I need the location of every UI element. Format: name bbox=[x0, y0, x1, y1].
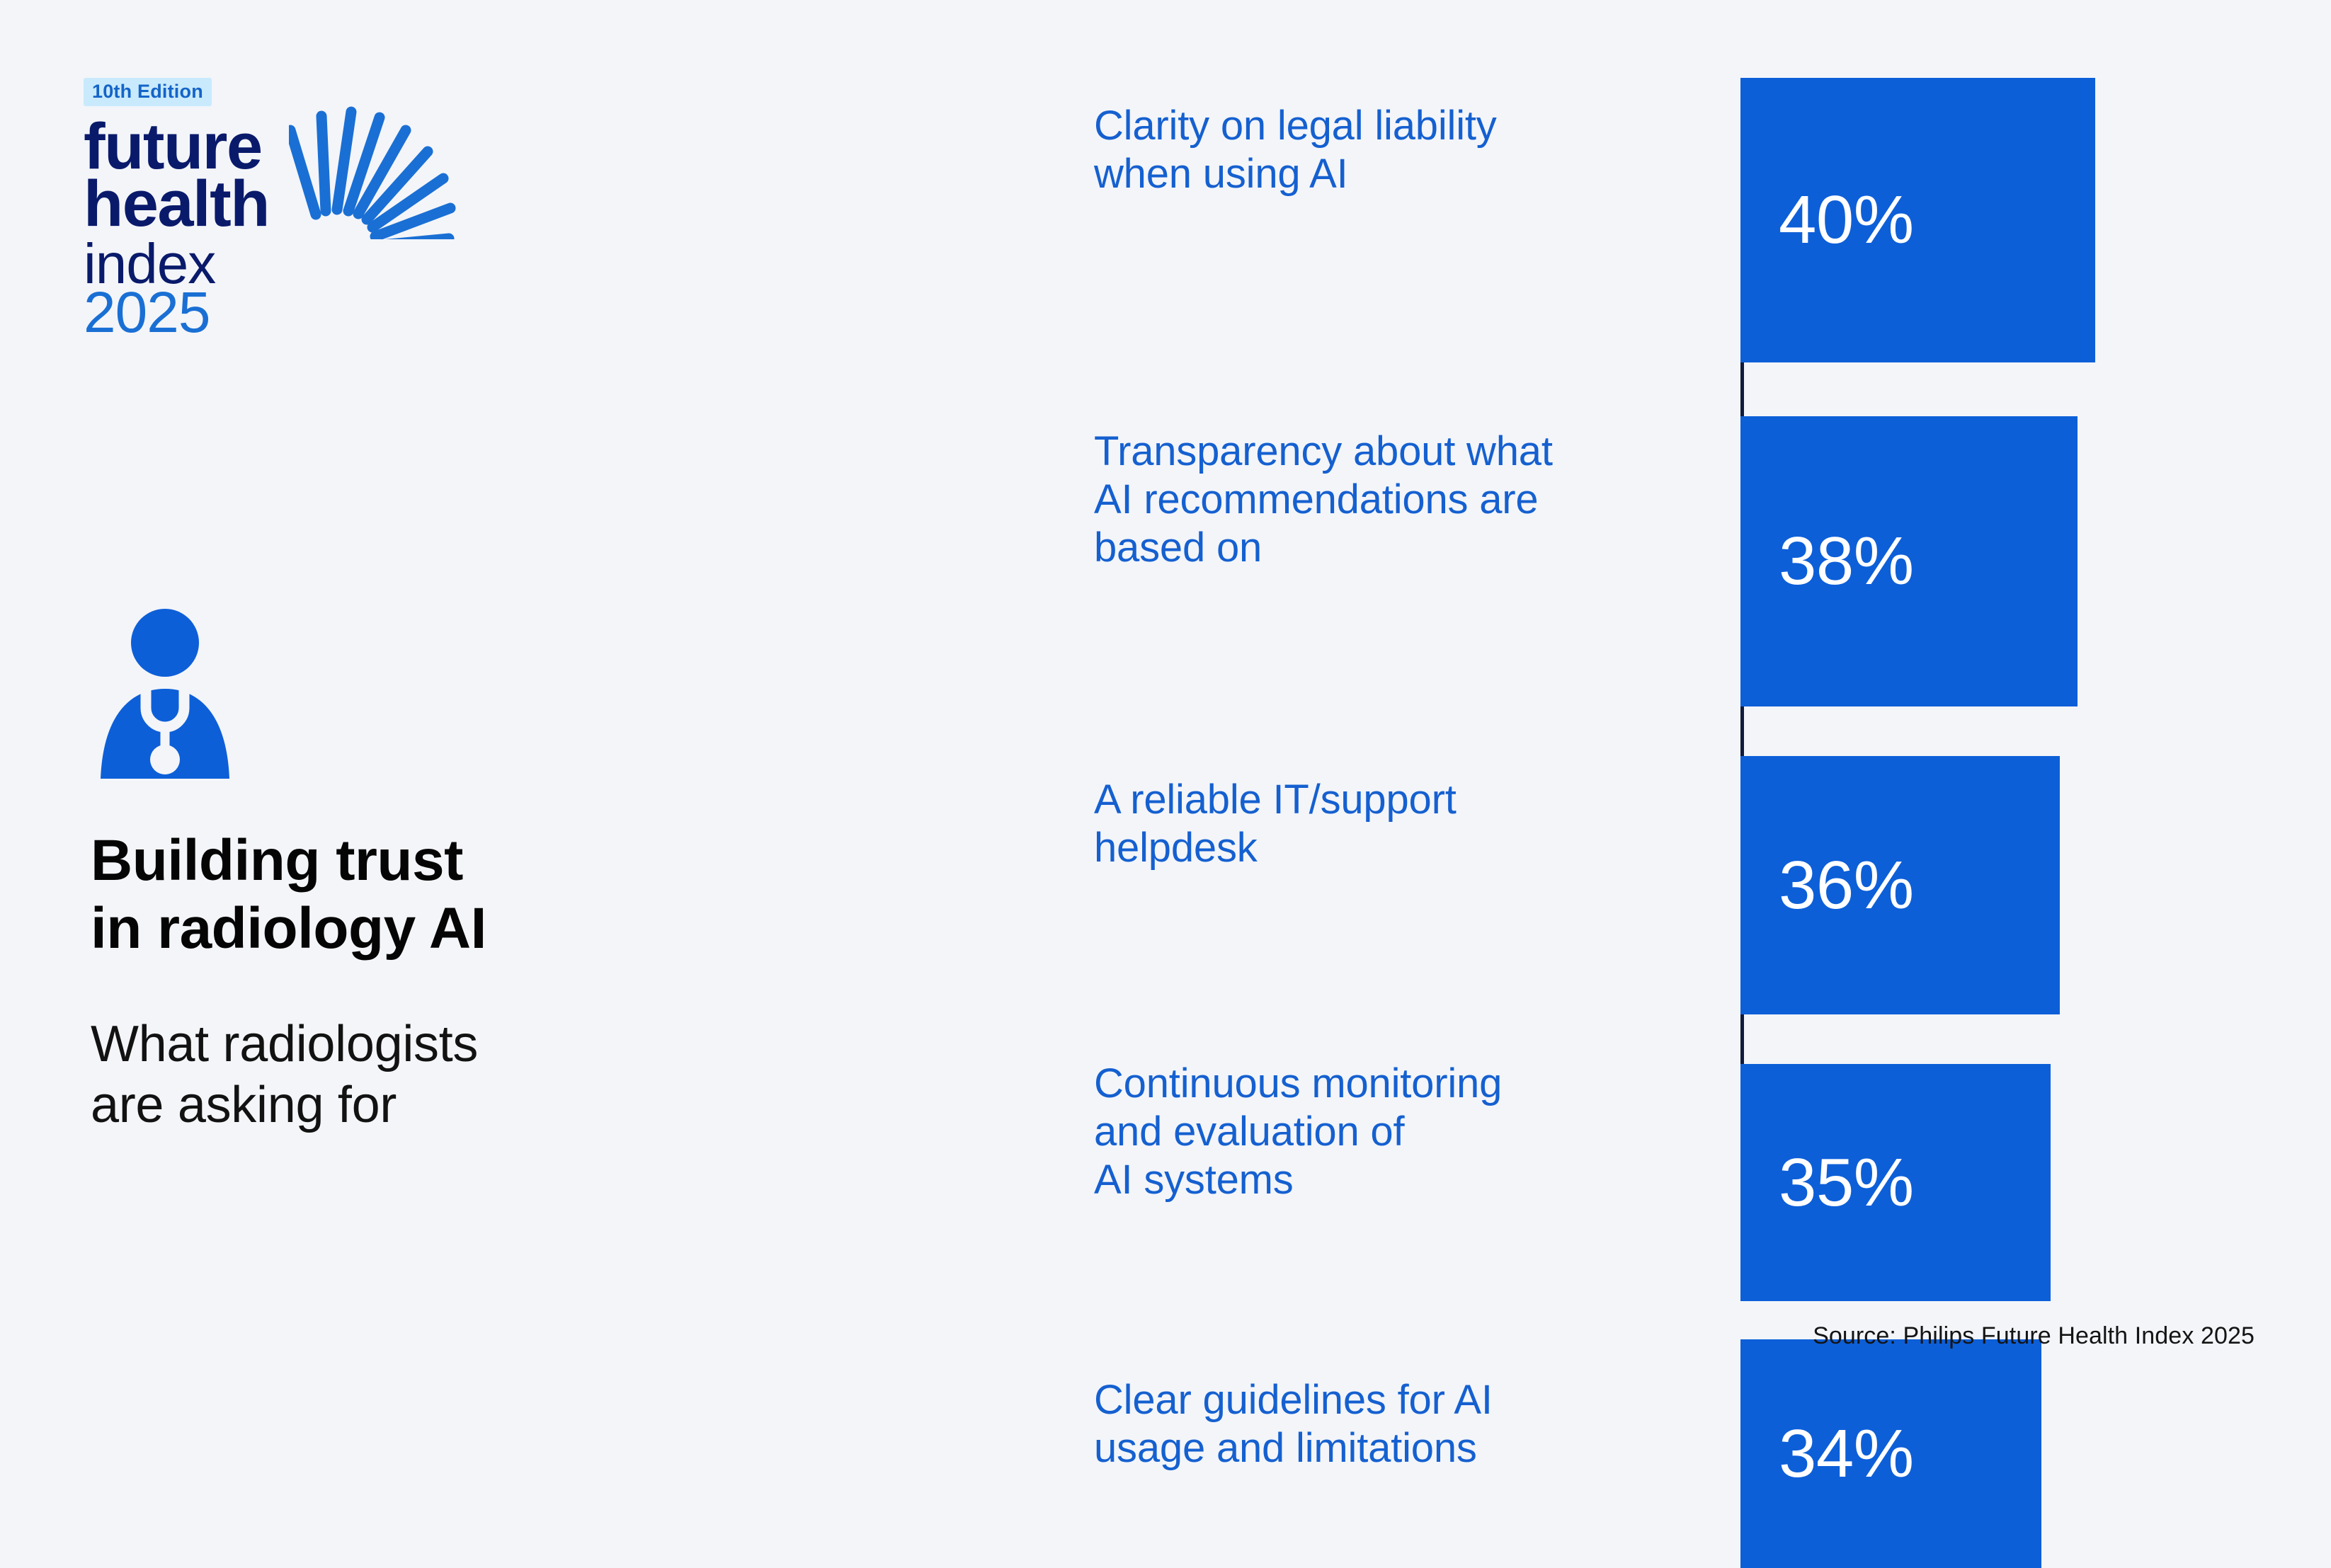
bar-segment: 40% bbox=[1740, 78, 2095, 362]
bar-value-label: 38% bbox=[1779, 527, 1914, 595]
headline-line-2: in radiology AI bbox=[91, 895, 728, 963]
bar-chart: Clarity on legal liability when using AI… bbox=[1094, 78, 2199, 1295]
chart-row: Clear guidelines for AI usage and limita… bbox=[1094, 1339, 2199, 1568]
sunburst-rays-icon bbox=[289, 62, 473, 239]
bar-category-label: Continuous monitoring and evaluation of … bbox=[1094, 1060, 1682, 1204]
subheadline-line-1: What radiologists bbox=[91, 1014, 728, 1075]
bar-value-label: 36% bbox=[1779, 852, 1914, 920]
chart-row: Continuous monitoring and evaluation of … bbox=[1094, 1064, 2199, 1301]
bar-category-label: Clear guidelines for AI usage and limita… bbox=[1094, 1376, 1682, 1472]
headline-line-1: Building trust bbox=[91, 827, 728, 895]
bar-value-label: 40% bbox=[1779, 186, 1914, 254]
page-subtitle: What radiologists are asking for bbox=[91, 1014, 728, 1136]
wordmark-year: 2025 bbox=[84, 285, 423, 341]
bar-segment: 36% bbox=[1740, 756, 2060, 1014]
subheadline-line-2: are asking for bbox=[91, 1075, 728, 1135]
bar-category-label: Clarity on legal liability when using AI bbox=[1094, 102, 1682, 198]
bar-segment: 38% bbox=[1740, 416, 2078, 706]
future-health-index-logo: 10th Edition future health index 2025 bbox=[84, 78, 423, 382]
page-title: Building trust in radiology AI bbox=[91, 827, 728, 963]
chart-row: Transparency about what AI recommendatio… bbox=[1094, 416, 2199, 706]
source-attribution: Source: Philips Future Health Index 2025 bbox=[1813, 1322, 2255, 1350]
bar-value-label: 35% bbox=[1779, 1149, 1914, 1217]
chart-row: A reliable IT/support helpdesk 36% bbox=[1094, 756, 2199, 1014]
edition-badge: 10th Edition bbox=[84, 78, 212, 106]
bar-value-label: 34% bbox=[1779, 1420, 1914, 1488]
bar-category-label: A reliable IT/support helpdesk bbox=[1094, 776, 1682, 872]
chart-row: Clarity on legal liability when using AI… bbox=[1094, 78, 2199, 362]
bar-segment: 34% bbox=[1740, 1339, 2041, 1568]
doctor-with-stethoscope-icon bbox=[91, 598, 239, 779]
bar-category-label: Transparency about what AI recommendatio… bbox=[1094, 428, 1682, 572]
bar-segment: 35% bbox=[1740, 1064, 2051, 1301]
